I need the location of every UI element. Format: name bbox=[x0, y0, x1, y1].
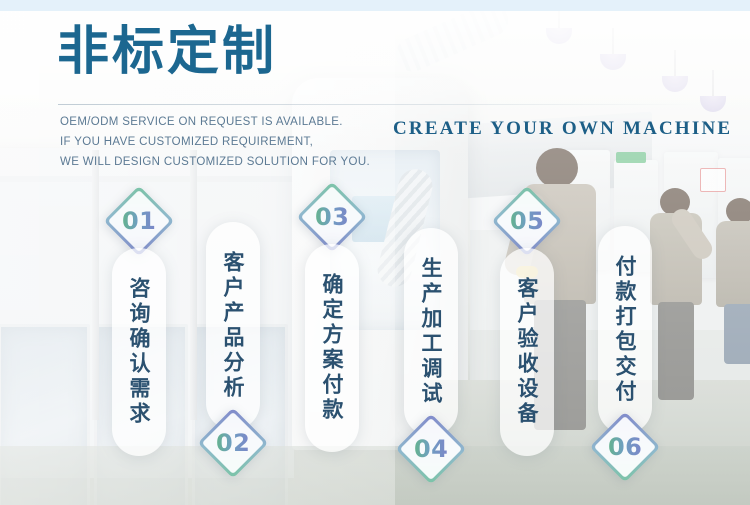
step-label-01: 咨询确认需求 bbox=[124, 277, 154, 427]
step-badge-05: 05 bbox=[492, 186, 563, 257]
step-label-06: 付款打包交付 bbox=[610, 255, 640, 405]
step-label-03: 确定方案付款 bbox=[317, 273, 347, 423]
step-badge-03: 03 bbox=[297, 182, 368, 253]
step-card-03[interactable]: 确定方案付款 bbox=[305, 244, 359, 452]
step-card-05[interactable]: 客户验收设备 bbox=[500, 248, 554, 456]
process-steps: 01 咨询确认需求 客户产品分析 02 03 bbox=[0, 0, 750, 505]
step-card-06[interactable]: 付款打包交付 bbox=[598, 226, 652, 434]
step-number-02: 02 bbox=[216, 429, 250, 457]
step-number-05: 05 bbox=[510, 207, 544, 235]
step-card-04[interactable]: 生产加工调试 bbox=[404, 228, 458, 436]
step-number-04: 04 bbox=[414, 435, 448, 463]
step-badge-06: 06 bbox=[590, 412, 661, 483]
step-number-03: 03 bbox=[315, 203, 349, 231]
step-label-04: 生产加工调试 bbox=[416, 257, 446, 407]
step-badge-01: 01 bbox=[104, 186, 175, 257]
step-number-01: 01 bbox=[122, 207, 156, 235]
step-card-01[interactable]: 咨询确认需求 bbox=[112, 248, 166, 456]
step-badge-02: 02 bbox=[198, 408, 269, 479]
step-label-05: 客户验收设备 bbox=[512, 277, 542, 427]
step-badge-04: 04 bbox=[396, 414, 467, 485]
promo-banner: 非标定制 OEM/ODM SERVICE ON REQUEST IS AVAIL… bbox=[0, 0, 750, 505]
step-label-02: 客户产品分析 bbox=[218, 251, 248, 401]
step-card-02[interactable]: 客户产品分析 bbox=[206, 222, 260, 430]
banner-content: 非标定制 OEM/ODM SERVICE ON REQUEST IS AVAIL… bbox=[0, 0, 750, 505]
step-number-06: 06 bbox=[608, 433, 642, 461]
